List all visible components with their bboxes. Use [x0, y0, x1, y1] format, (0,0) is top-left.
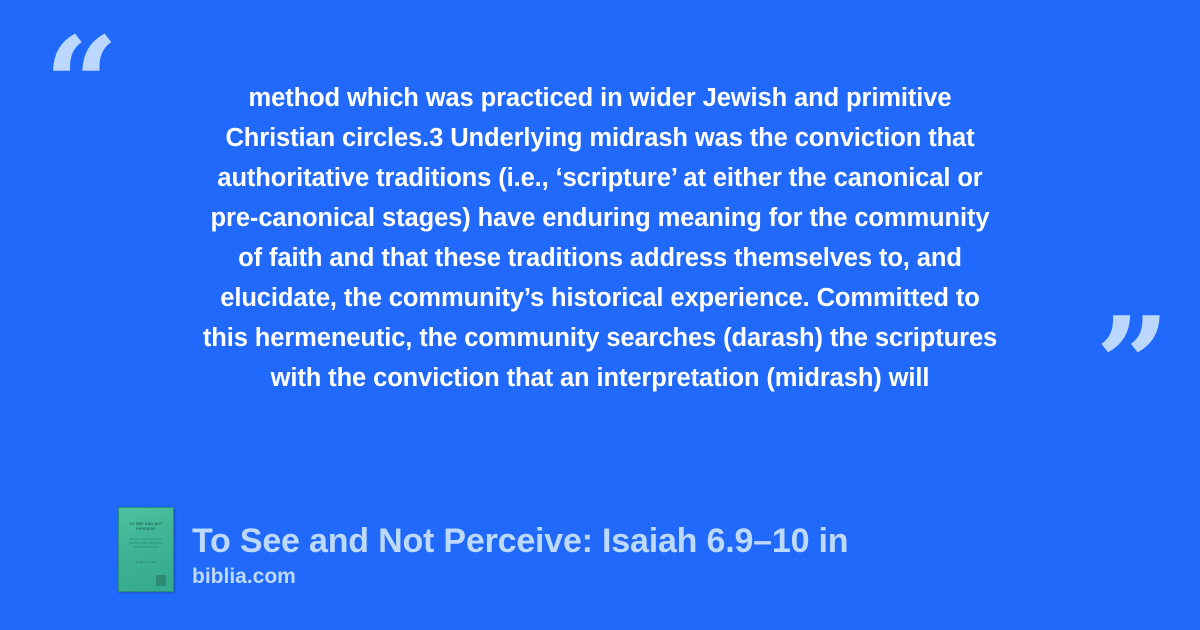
site-name: biblia.com — [192, 564, 848, 590]
quote-line: method which was practiced in wider Jewi… — [100, 78, 1100, 118]
quote-line: of faith and that these traditions addre… — [100, 238, 1100, 278]
closing-quote-mark: ” — [1095, 300, 1170, 430]
book-title: To See and Not Perceive: Isaiah 6.9–10 i… — [192, 520, 848, 562]
book-cover-title: TO SEE AND NOT PERCEIVE — [125, 522, 167, 531]
quote-line: Christian circles.3 Underlying midrash w… — [100, 118, 1100, 158]
quote-line: with the conviction that an interpretati… — [100, 358, 1100, 398]
book-cover-subtitle: ISAIAH 6.9-10 IN EARLY JEWISH AND CHRIST… — [126, 538, 166, 549]
quote-line: this hermeneutic, the community searches… — [100, 318, 1100, 358]
quote-line: pre-canonical stages) have enduring mean… — [100, 198, 1100, 238]
quote-card: “ method which was practiced in wider Je… — [0, 0, 1200, 630]
quote-line: authoritative traditions (i.e., ‘scriptu… — [100, 158, 1100, 198]
quote-line: elucidate, the community’s historical ex… — [100, 278, 1100, 318]
attribution-footer: TO SEE AND NOT PERCEIVE ISAIAH 6.9-10 IN… — [118, 507, 848, 592]
publisher-logo-icon — [156, 575, 166, 586]
book-cover-thumbnail: TO SEE AND NOT PERCEIVE ISAIAH 6.9-10 IN… — [118, 507, 174, 592]
footer-text-block: To See and Not Perceive: Isaiah 6.9–10 i… — [192, 520, 848, 592]
book-cover-author: Craig A. Evans — [125, 560, 167, 564]
quote-text: method which was practiced in wider Jewi… — [100, 78, 1100, 398]
